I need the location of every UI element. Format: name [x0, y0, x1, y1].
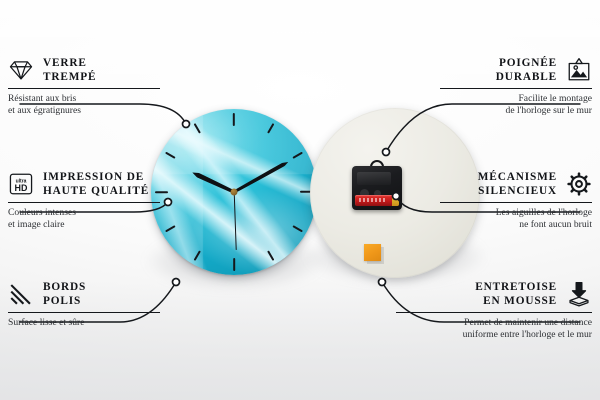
feature-impression-haute-qualite: ultra HD IMPRESSION DE HAUTE QUALITÉ Cou… [8, 170, 208, 231]
diamond-icon [8, 57, 34, 83]
gear-icon [566, 171, 592, 197]
ultra-hd-badge-icon: ultra HD [8, 171, 34, 197]
feature-heading: BORDS POLIS [8, 280, 208, 308]
feature-verre-trempe: VERRE TREMPÉ Résistant aux bris et aux é… [8, 56, 208, 117]
feature-heading: ultra HD IMPRESSION DE HAUTE QUALITÉ [8, 170, 208, 198]
leader-dot-verre [183, 121, 190, 128]
feature-heading: POIGNÉE DURABLE [392, 56, 592, 84]
feature-title: IMPRESSION DE HAUTE QUALITÉ [43, 170, 149, 198]
divider [8, 312, 160, 313]
feature-bords-polis: BORDS POLIS Surface lisse et sûre [8, 280, 208, 329]
leader-dot-poignee [383, 149, 390, 156]
divider [8, 202, 160, 203]
feature-title: ENTRETOISE EN MOUSSE [475, 280, 557, 308]
feature-mecanisme-silencieux: MÉCANISME SILENCIEUX Les aiguilles d [392, 170, 592, 231]
product-infographic: VERRE TREMPÉ Résistant aux bris et aux é… [0, 0, 600, 400]
feature-title: POIGNÉE DURABLE [496, 56, 557, 84]
feature-heading: VERRE TREMPÉ [8, 56, 208, 84]
feature-description: Résistant aux bris et aux égratignures [8, 93, 208, 117]
divider [440, 88, 592, 89]
hanging-picture-frame-icon [566, 57, 592, 83]
feature-description: Permet de maintenir une distance uniform… [380, 317, 592, 341]
feature-entretoise-en-mousse: ENTRETOISE EN MOUSSE Permet de maintenir… [380, 280, 592, 341]
feature-description: Les aiguilles de l'horloge ne font aucun… [392, 207, 592, 231]
arrow-down-onto-layers-icon [566, 281, 592, 307]
feature-heading: MÉCANISME SILENCIEUX [392, 170, 592, 198]
feature-title: VERRE TREMPÉ [43, 56, 96, 84]
divider [396, 312, 592, 313]
feature-title: BORDS POLIS [43, 280, 86, 308]
svg-text:HD: HD [15, 183, 28, 193]
feature-heading: ENTRETOISE EN MOUSSE [380, 280, 592, 308]
divider [440, 202, 592, 203]
feature-title: MÉCANISME SILENCIEUX [478, 170, 557, 198]
diagonal-lines-icon [8, 281, 34, 307]
feature-description: Facilite le montage de l'horloge sur le … [392, 93, 592, 117]
feature-description: Couleurs intenses et image claire [8, 207, 208, 231]
divider [8, 88, 160, 89]
feature-description: Surface lisse et sûre [8, 317, 208, 329]
feature-poignee-durable: POIGNÉE DURABLE Facilite le montage de l… [392, 56, 592, 117]
